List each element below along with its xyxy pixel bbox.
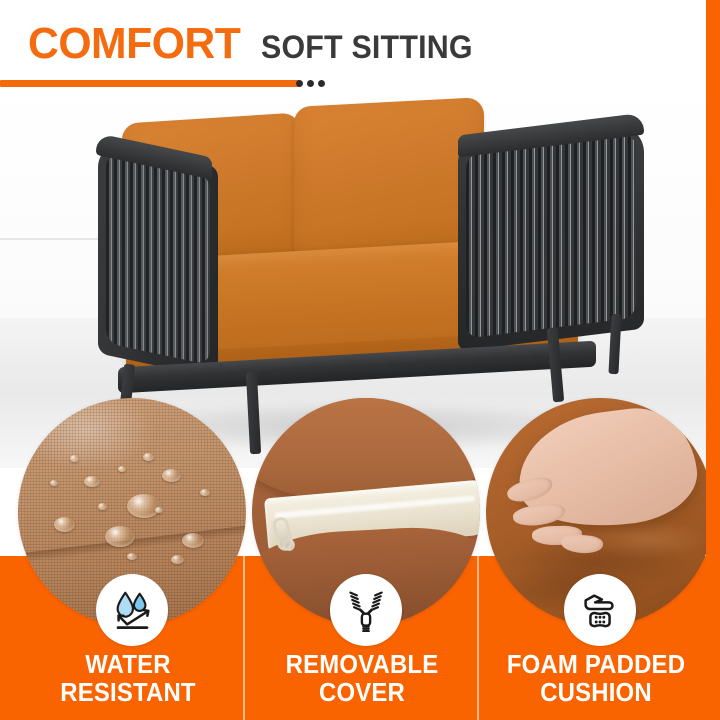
water-droplet — [50, 480, 58, 486]
header-divider-dots — [296, 78, 325, 88]
right-edge-accent-strip — [706, 0, 720, 560]
divider-dot-1 — [296, 80, 303, 87]
water-droplet — [127, 494, 161, 518]
header-divider-bar — [0, 80, 300, 87]
zipper-icon — [330, 574, 402, 646]
armrest-left — [98, 141, 218, 379]
water-droplet — [162, 469, 181, 482]
header: COMFORT SOFT SITTING — [0, 0, 720, 96]
feature-caption-water-resistant: WATER RESISTANT — [20, 650, 235, 706]
armrest-right-rope-weave — [466, 134, 636, 339]
caption-line-1: FOAM PADDED — [488, 650, 703, 678]
title-main: COMFORT — [28, 22, 240, 66]
title-subtitle: SOFT SITTING — [261, 31, 473, 63]
back-cushion-right — [294, 97, 484, 257]
water-droplet — [98, 503, 107, 510]
caption-line-1: WATER — [20, 650, 235, 678]
feature-list — [0, 398, 720, 658]
feature-caption-foam-padded-cushion: FOAM PADDED CUSHION — [488, 650, 703, 706]
leg-back-right — [608, 314, 621, 374]
armrest-left-rope-weave — [106, 153, 210, 365]
water-droplet — [84, 476, 100, 487]
caption-line-1: REMOVABLE — [254, 650, 469, 678]
caption-line-2: CUSHION — [488, 678, 703, 706]
water-droplet — [105, 526, 135, 547]
water-droplet — [54, 517, 75, 532]
water-drop-icon — [96, 574, 168, 646]
feature-item-removable-cover — [252, 398, 480, 626]
water-droplet — [143, 453, 154, 461]
water-droplet — [182, 533, 204, 548]
feature-item-foam-padded-cushion — [486, 398, 714, 626]
page-title: COMFORT SOFT SITTING — [28, 22, 484, 66]
feature-caption-removable-cover: REMOVABLE COVER — [254, 650, 469, 706]
caption-line-2: COVER — [254, 678, 469, 706]
hand-on-foam-icon — [564, 574, 636, 646]
header-divider — [0, 78, 320, 88]
feature-item-water-resistant — [18, 398, 246, 626]
divider-dot-2 — [307, 80, 314, 87]
caption-line-2: RESISTANT — [20, 678, 235, 706]
divider-dot-3 — [318, 80, 325, 87]
